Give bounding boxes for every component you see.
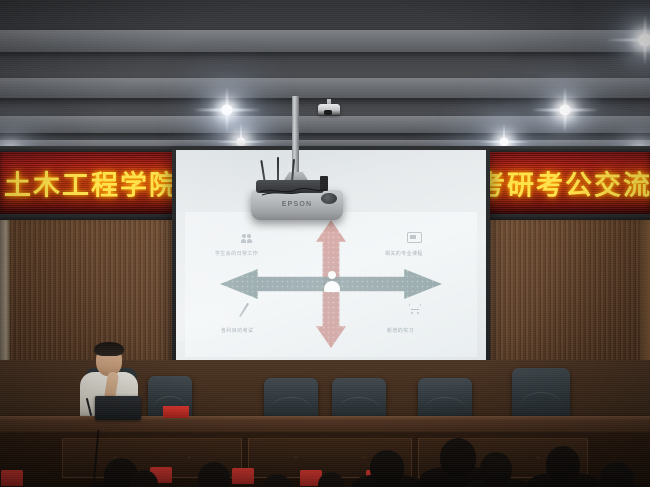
- antenna-icon: [277, 157, 279, 182]
- stage-chair: [418, 378, 472, 418]
- cables: [258, 186, 328, 196]
- led-banner-right-text: 考研考公交流会: [470, 164, 650, 203]
- people-icon: [241, 234, 253, 244]
- lecture-hall-photo: 土木工程学院 考研考公交流会 学生会的日常工作: [0, 0, 650, 487]
- led-banner-left: 土木工程学院: [0, 152, 182, 214]
- projector-brand-label: EPSON: [251, 201, 343, 208]
- camera-lens-icon: [324, 110, 332, 115]
- monitor-icon: [407, 232, 422, 243]
- ceiling-recess-3: [0, 133, 650, 140]
- cart-icon: [407, 304, 422, 314]
- led-banner-right: 考研考公交流会: [470, 152, 650, 214]
- slide-label-top-left: 学生会的日常工作: [215, 250, 258, 257]
- audience-head: [440, 438, 476, 476]
- ceiling-recess-1: [0, 52, 650, 78]
- ceiling: [0, 0, 650, 150]
- projection-screen: 学生会的日常工作 相关的专业课程 各科目的考试 新增的实习: [172, 146, 490, 384]
- stage-chair: [264, 378, 318, 418]
- led-banner-left-text: 土木工程学院: [0, 164, 182, 203]
- presenter-hair: [94, 342, 124, 356]
- pen-icon: [239, 303, 249, 318]
- audience-seat-back: [1, 470, 23, 486]
- laptop-icon: [95, 396, 141, 420]
- led-banner-base-right: [470, 214, 650, 220]
- audience-head: [480, 452, 512, 486]
- stage-chair: [332, 378, 386, 418]
- audience-head: [370, 450, 404, 484]
- audience-seat-back: [232, 468, 254, 484]
- ceiling-beam-1: [0, 30, 650, 52]
- slide-label-bottom-right: 新增的实习: [387, 327, 414, 334]
- slide-label-top-right: 相关的专业课程: [385, 250, 423, 257]
- led-banner-base-left: [0, 214, 182, 220]
- slide-label-bottom-left: 各科目的考试: [221, 327, 253, 334]
- audience-head: [198, 462, 230, 487]
- presentation-slide: 学生会的日常工作 相关的专业课程 各科目的考试 新增的实习: [185, 212, 477, 357]
- screen-surface: 学生会的日常工作 相关的专业课程 各科目的考试 新增的实习: [176, 150, 486, 380]
- audience-head: [546, 446, 580, 482]
- person-icon: [323, 270, 340, 295]
- ceiling-beam-3: [0, 116, 650, 133]
- stage-chair: [512, 368, 570, 418]
- ceiling-dark-band: [0, 0, 650, 32]
- red-desk-object: [163, 406, 189, 418]
- ceiling-beam-2: [0, 78, 650, 98]
